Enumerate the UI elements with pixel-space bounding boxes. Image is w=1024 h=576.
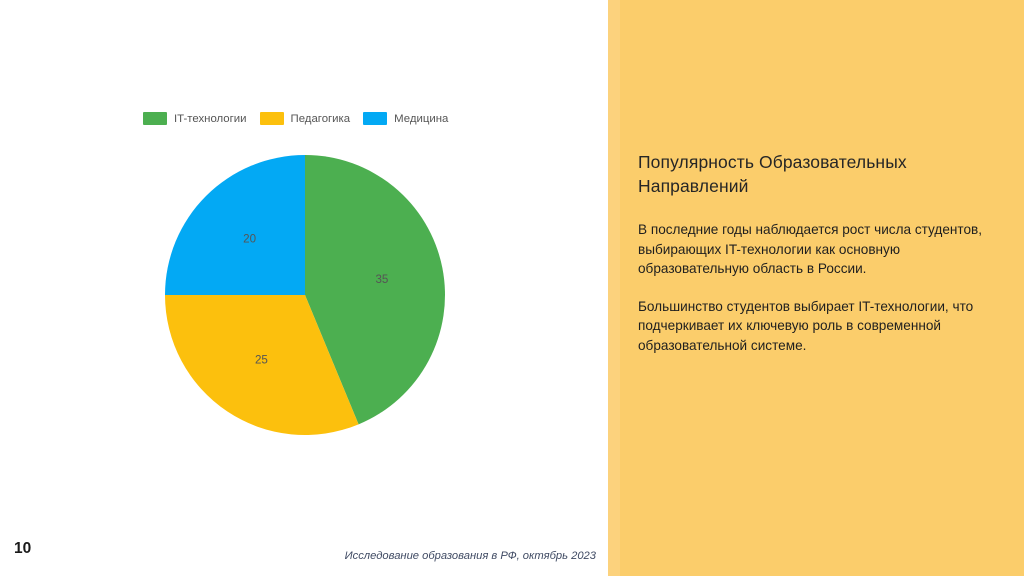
pie-slice-medicine[interactable]: [165, 155, 305, 295]
legend-item-it[interactable]: IT-технологии: [143, 112, 247, 125]
chart-legend: IT-технологии Педагогика Медицина: [143, 112, 448, 125]
legend-label-medicine: Медицина: [394, 113, 448, 125]
footer-note: Исследование образования в РФ, октябрь 2…: [0, 550, 596, 562]
legend-swatch-icon-pedagogy: [260, 112, 284, 125]
pie-slices: [165, 155, 445, 435]
pie-data-label-it: 35: [375, 273, 388, 286]
panel-edge-accent: [608, 0, 620, 576]
pie-data-label-pedagogy: 25: [255, 353, 268, 366]
text-panel: Популярность Образовательных Направлений…: [608, 0, 1024, 576]
panel-paragraph-1: В последние годы наблюдается рост числа …: [638, 220, 998, 278]
pie-graphic: 35 25 20: [165, 155, 445, 435]
slide-canvas: IT-технологии Педагогика Медицина 35: [0, 0, 1024, 576]
panel-paragraph-2: Большинство студентов выбирает IT-технол…: [638, 297, 998, 355]
footer-note-text: Исследование образования в РФ, октябрь 2…: [345, 550, 596, 562]
legend-label-pedagogy: Педагогика: [291, 113, 351, 125]
legend-swatch-icon-medicine: [363, 112, 387, 125]
legend-swatch-icon-it: [143, 112, 167, 125]
legend-item-pedagogy[interactable]: Педагогика: [260, 112, 351, 125]
pie-svg: 35 25 20: [165, 155, 445, 435]
panel-content: Популярность Образовательных Направлений…: [638, 150, 998, 355]
pie-data-label-medicine: 20: [243, 233, 256, 246]
legend-item-medicine[interactable]: Медицина: [363, 112, 448, 125]
panel-title: Популярность Образовательных Направлений: [638, 150, 998, 198]
legend-label-it: IT-технологии: [174, 113, 247, 125]
pie-chart-region: IT-технологии Педагогика Медицина 35: [0, 0, 608, 576]
